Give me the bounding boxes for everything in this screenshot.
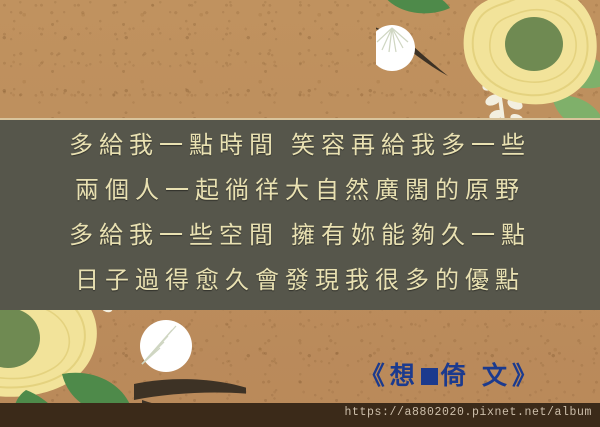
poem-text-block: 多給我一點時間 笑容再給我多一些 兩個人一起徜徉大自然廣闊的原野 多給我一些空間… bbox=[0, 124, 600, 304]
missing-glyph-box bbox=[421, 368, 438, 385]
poem-line: 多給我一些空間 擁有妳能夠久一點 bbox=[69, 223, 531, 249]
signature-before-text: 想 bbox=[390, 363, 420, 390]
signature-open-bracket: 《 bbox=[360, 363, 390, 390]
watermark-url: https://a8802020.pixnet.net/album bbox=[344, 406, 592, 419]
poster-canvas: 多給我一點時間 笑容再給我多一些 兩個人一起徜徉大自然廣闊的原野 多給我一些空間… bbox=[0, 0, 600, 427]
signature-after-text: 倚 文 bbox=[441, 363, 512, 390]
poem-line: 日子過得愈久會發現我很多的優點 bbox=[75, 268, 525, 294]
signature-close-bracket: 》 bbox=[512, 363, 542, 390]
signature-title: 《想倚 文》 bbox=[360, 356, 542, 392]
poem-line: 兩個人一起徜徉大自然廣闊的原野 bbox=[75, 178, 525, 204]
poem-line: 多給我一點時間 笑容再給我多一些 bbox=[69, 133, 531, 159]
